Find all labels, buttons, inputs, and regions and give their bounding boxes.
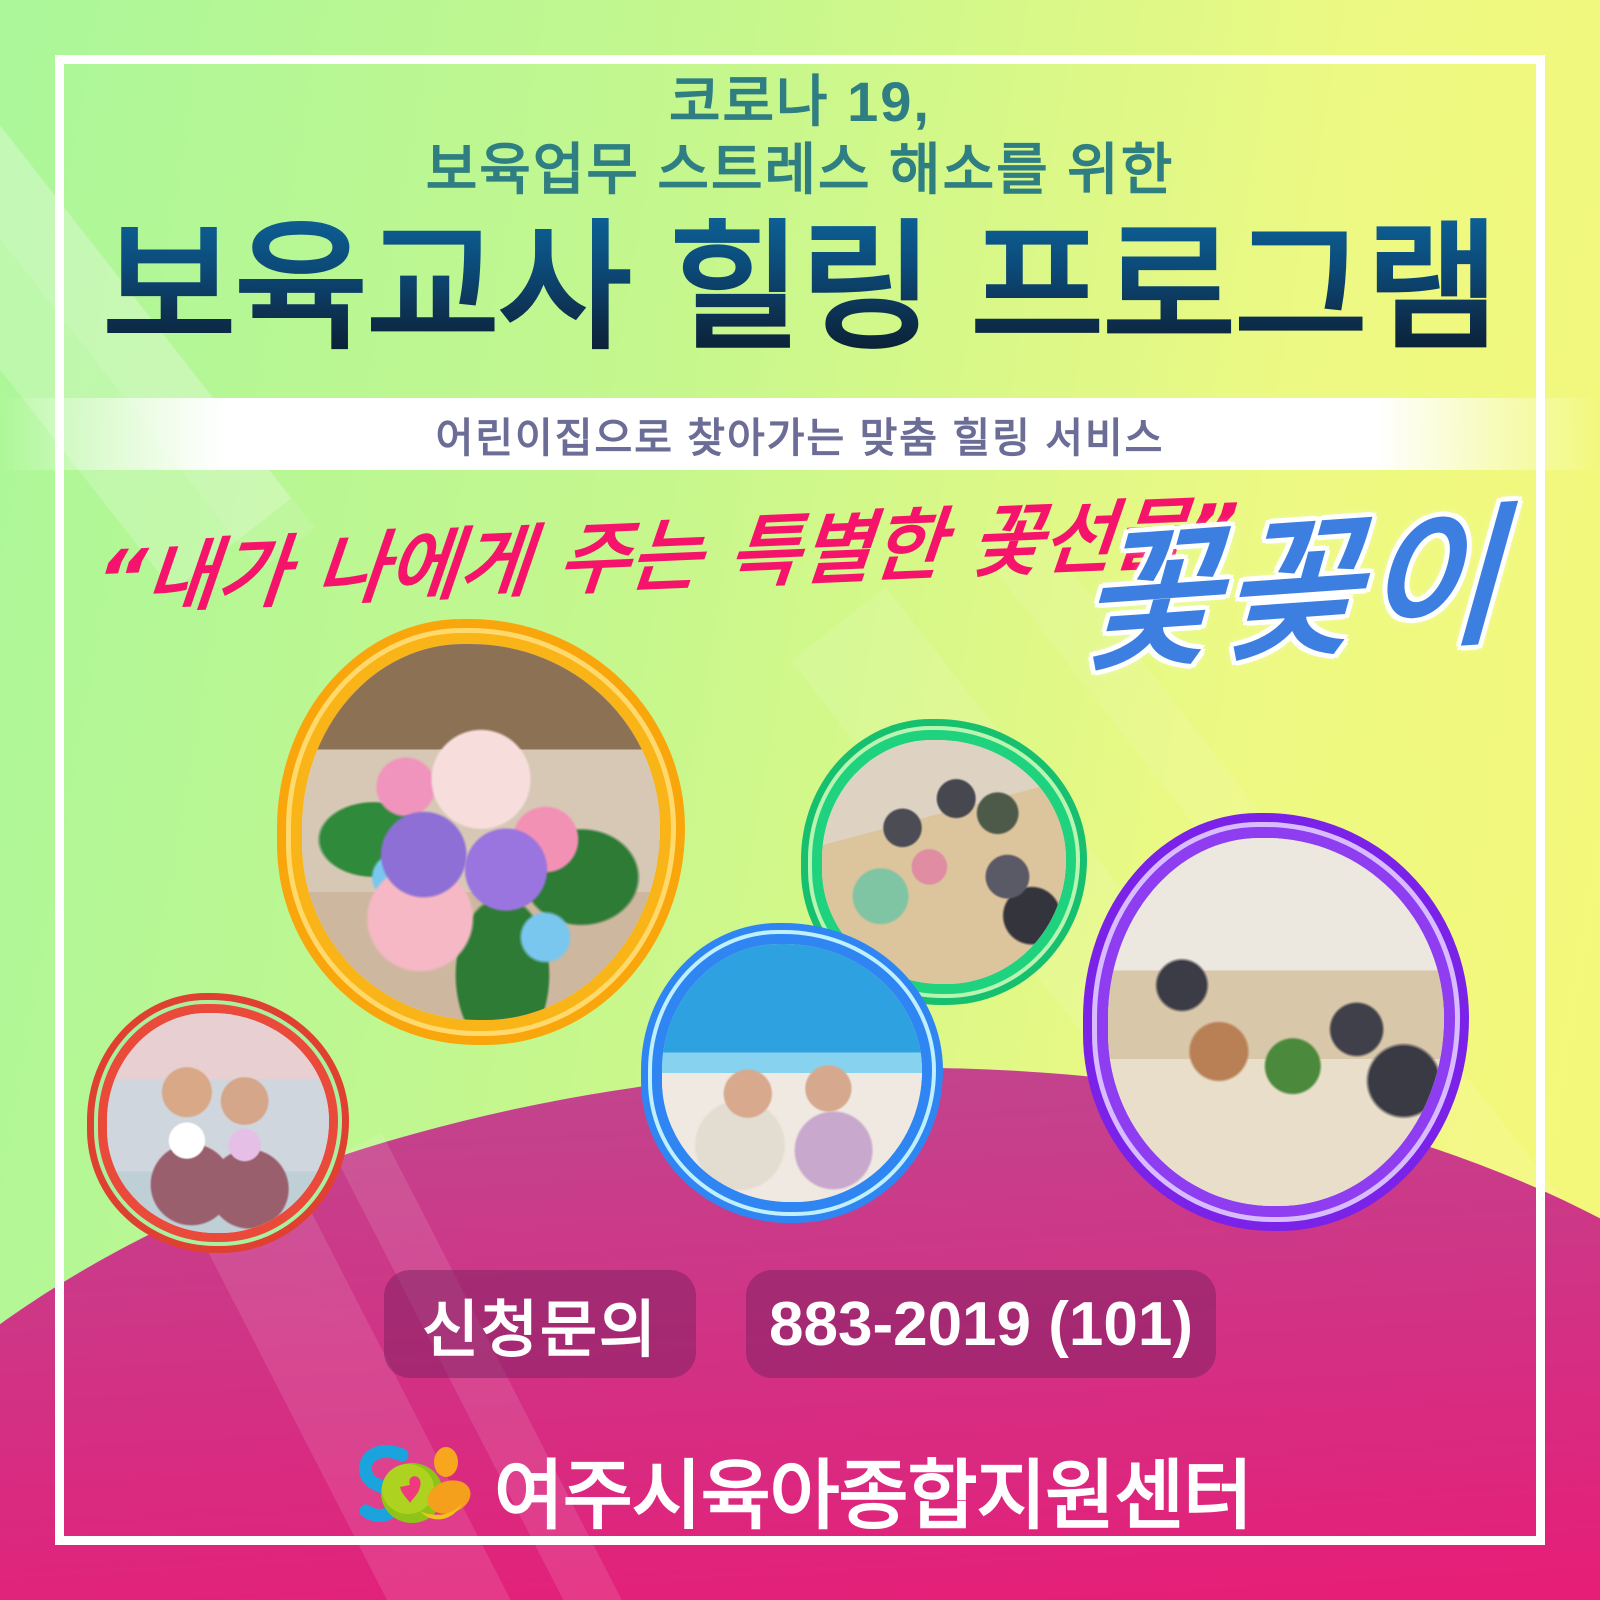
page-title: 보육교사 힐링 프로그램 bbox=[0, 218, 1600, 358]
contact-row: 신청문의 883-2019 (101) bbox=[0, 1270, 1600, 1378]
photo-classroom bbox=[1092, 822, 1460, 1222]
kicker-line-1: 코로나 19, bbox=[669, 70, 931, 133]
photo-scene-two-teachers bbox=[107, 1013, 329, 1233]
photo-image bbox=[302, 644, 660, 1020]
photo-banner-pair bbox=[648, 930, 936, 1216]
handwritten-keyword: 꽃꽂이 bbox=[1077, 455, 1510, 703]
photo-image bbox=[662, 944, 922, 1202]
photo-scene-classroom bbox=[1108, 838, 1444, 1206]
handwritten-quote: “내가 나에게 주는 특별한 꽃선물” bbox=[91, 478, 1051, 630]
photo-image bbox=[1108, 838, 1444, 1206]
photo-image bbox=[107, 1013, 329, 1233]
photo-scene-banner bbox=[662, 944, 922, 1202]
contact-phone-badge[interactable]: 883-2019 (101) bbox=[746, 1270, 1216, 1378]
organization-name: 여주시육아종합지원센터 bbox=[494, 1434, 1252, 1544]
footer-branding: 여주시육아종합지원센터 bbox=[0, 1434, 1600, 1544]
soi-logo-icon bbox=[348, 1441, 480, 1537]
kicker-line-2: 보육업무 스트레스 해소를 위한 bbox=[0, 136, 1600, 204]
poster-canvas: 코로나 19, 보육업무 스트레스 해소를 위한 보육교사 힐링 프로그램 어린… bbox=[0, 0, 1600, 1600]
photo-scene-bouquet bbox=[302, 644, 660, 1020]
photo-two-teachers bbox=[94, 1000, 342, 1246]
contact-label-badge: 신청문의 bbox=[384, 1270, 696, 1378]
kicker-text: 코로나 19, 보육업무 스트레스 해소를 위한 bbox=[0, 68, 1600, 205]
subtitle-text: 어린이집으로 찾아가는 맞춤 힐링 서비스 bbox=[0, 398, 1600, 470]
photo-bouquet bbox=[286, 628, 676, 1036]
